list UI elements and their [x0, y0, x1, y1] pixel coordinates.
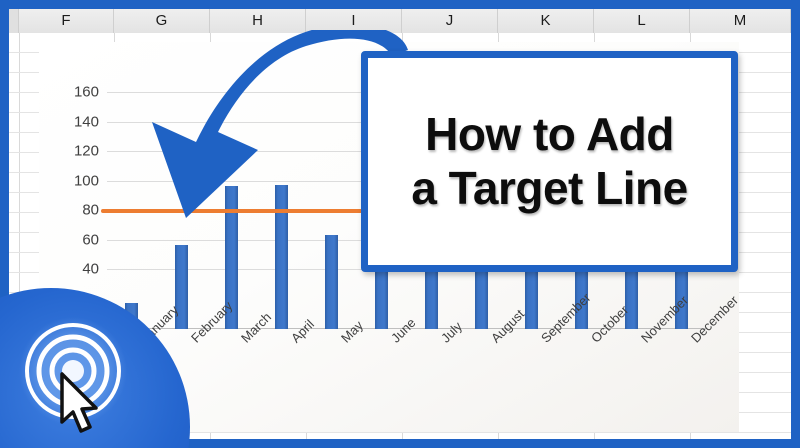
y-tick-label: 120 — [74, 143, 99, 160]
x-label-may: May — [338, 318, 366, 346]
x-label-text: April — [288, 317, 317, 346]
x-label-april: April — [288, 317, 317, 346]
callout-title-line-2: a Target Line — [411, 162, 687, 216]
column-header-m[interactable]: M — [690, 9, 791, 33]
column-header-h[interactable]: H — [210, 9, 306, 33]
y-tick-label: 40 — [82, 261, 99, 278]
column-header-g[interactable]: G — [114, 9, 210, 33]
column-header-l[interactable]: L — [594, 9, 690, 33]
bar-may[interactable] — [325, 235, 338, 329]
x-label-july: July — [438, 319, 465, 346]
x-label-text: June — [388, 315, 419, 346]
x-label-december: December — [688, 293, 741, 346]
x-label-text: July — [438, 319, 465, 346]
x-label-june: June — [388, 315, 419, 346]
bar-april[interactable] — [275, 185, 288, 329]
y-tick-label: 160 — [74, 84, 99, 101]
mouse-cursor-icon — [58, 372, 104, 434]
column-header-j[interactable]: J — [402, 9, 498, 33]
x-label-august: August — [488, 306, 527, 345]
x-label-text: August — [488, 306, 527, 345]
y-tick-label: 60 — [82, 231, 99, 248]
screenshot-root: F G H I J K L M — [0, 0, 800, 448]
y-tick-label: 100 — [74, 172, 99, 189]
callout-title-line-1: How to Add — [425, 108, 674, 162]
y-tick-label: 140 — [74, 113, 99, 130]
x-label-text: December — [688, 293, 741, 346]
column-header-row: F G H I J K L M — [9, 9, 791, 34]
select-all-corner[interactable] — [9, 9, 19, 33]
callout-textbox[interactable]: How to Add a Target Line — [361, 51, 738, 272]
column-header-k[interactable]: K — [498, 9, 594, 33]
y-tick-label: 80 — [82, 202, 99, 219]
column-header-i[interactable]: I — [306, 9, 402, 33]
x-label-text: May — [338, 318, 366, 346]
column-header-f[interactable]: F — [19, 9, 114, 33]
